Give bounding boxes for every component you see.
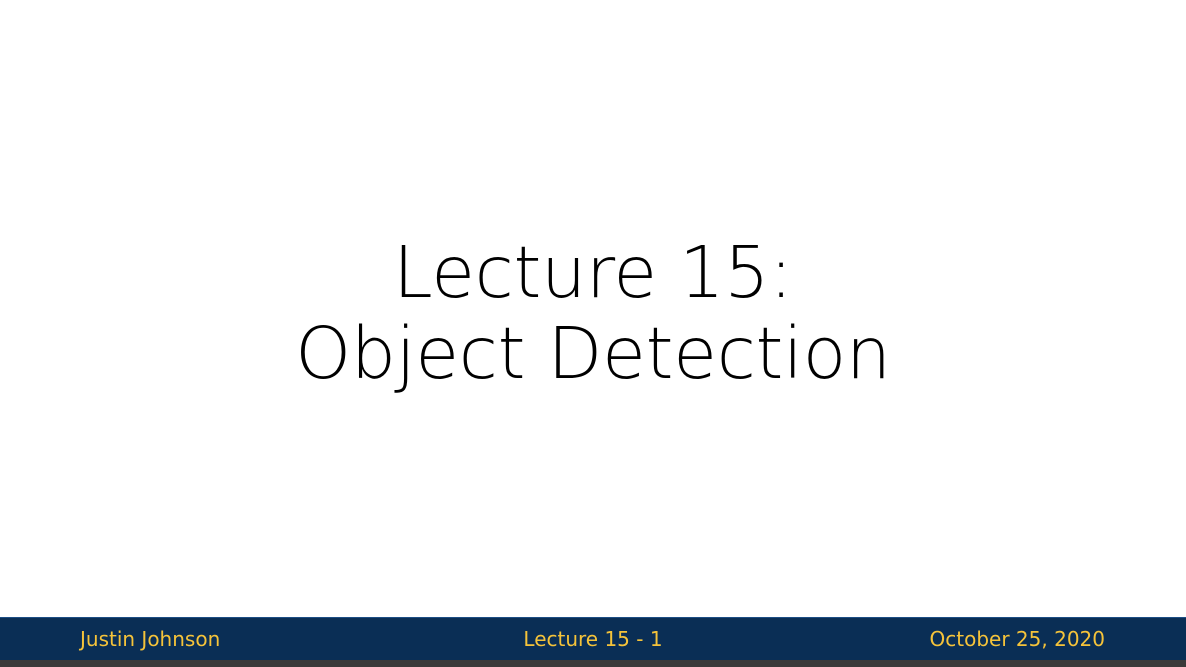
footer-baseline-strip (0, 660, 1186, 667)
slide-title: Lecture 15: Object Detection (0, 232, 1186, 394)
slide-footer-bar: Justin Johnson Lecture 15 - 1 October 25… (0, 617, 1186, 661)
footer-date: October 25, 2020 (930, 618, 1105, 661)
title-line-1: Lecture 15: (60, 232, 1126, 313)
footer-content: Justin Johnson Lecture 15 - 1 October 25… (0, 618, 1186, 661)
presentation-slide: Lecture 15: Object Detection Justin John… (0, 0, 1186, 667)
title-line-2: Object Detection (60, 313, 1126, 394)
